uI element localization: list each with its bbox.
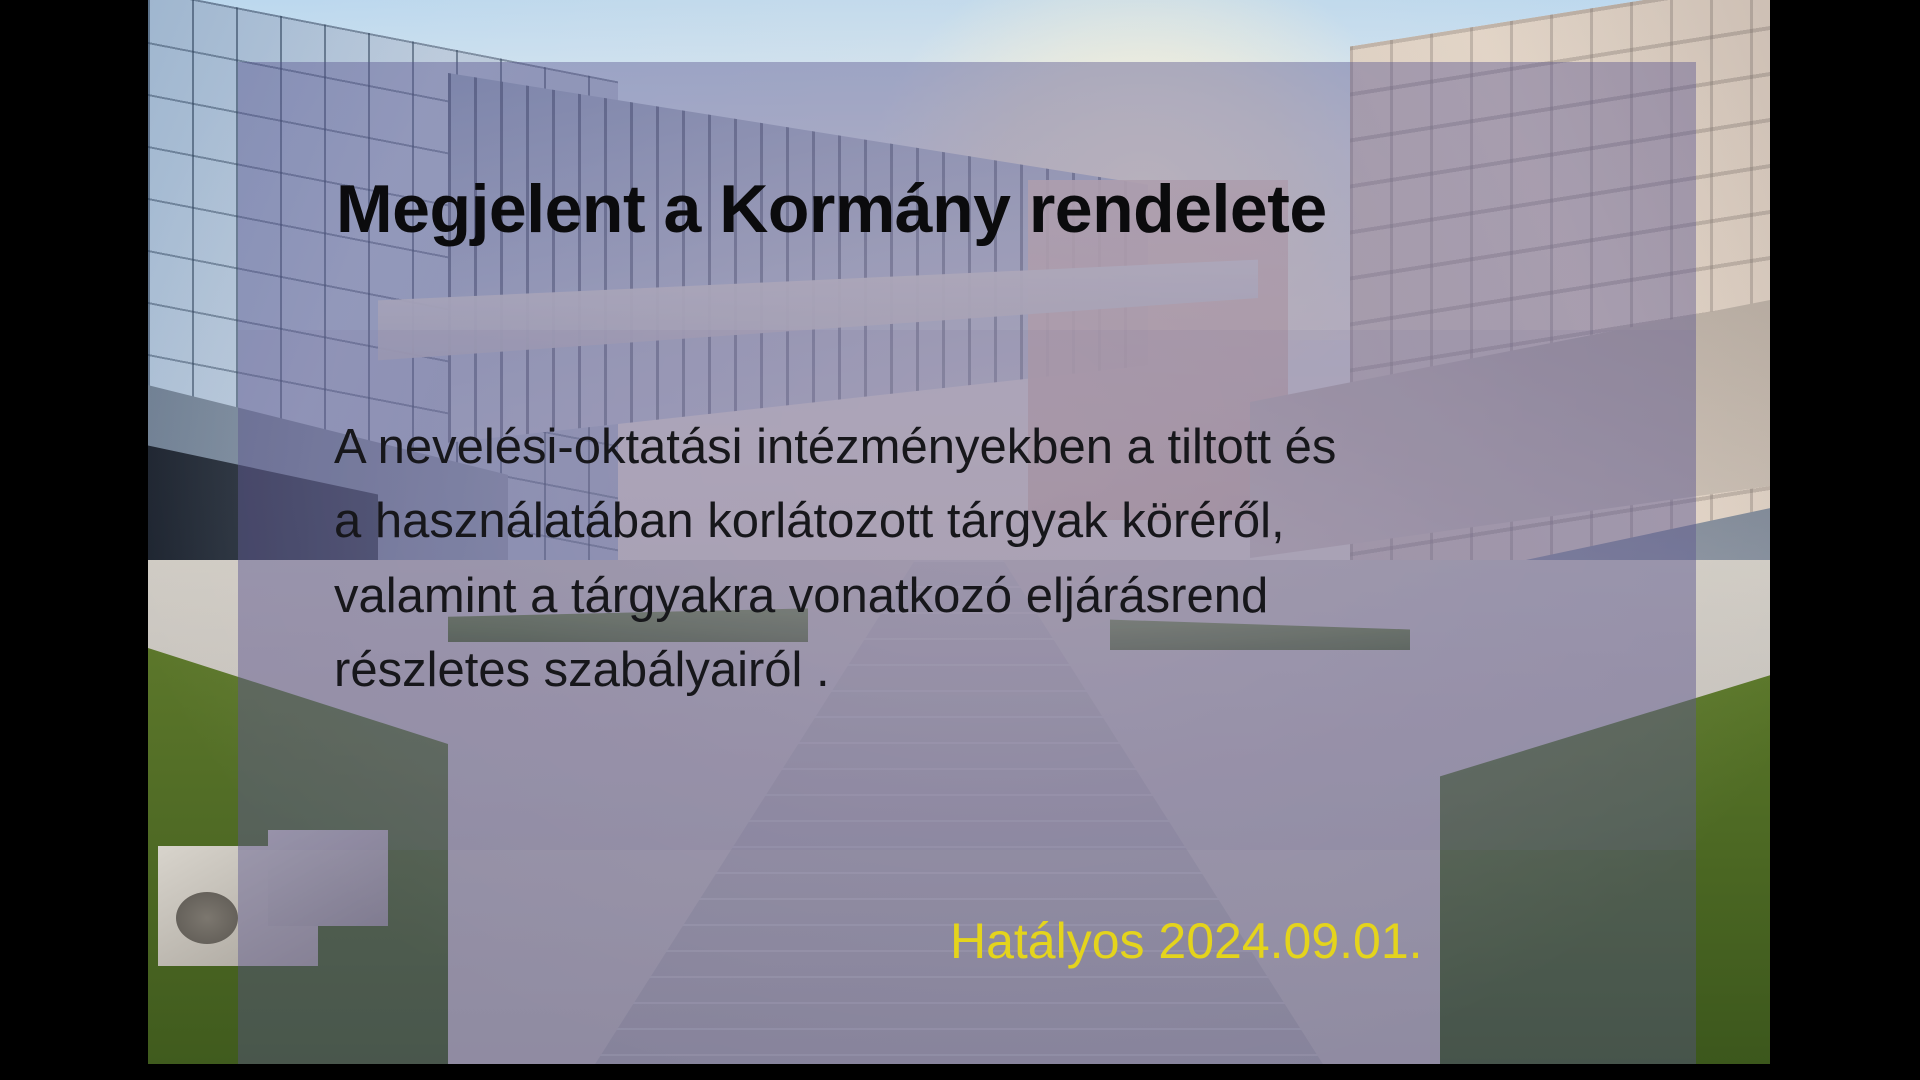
letterbox-bar-left (0, 0, 148, 1080)
effective-date-label: Hatályos 2024.09.01. (950, 912, 1423, 970)
body-line: részletes szabályairól . (334, 633, 1634, 707)
letterbox-bar-right (1770, 0, 1920, 1080)
slide-body-text: A nevelési-oktatási intézményekben a til… (334, 410, 1634, 708)
body-line: A nevelési-oktatási intézményekben a til… (334, 410, 1634, 484)
letterbox-bar-bottom (0, 1064, 1920, 1080)
body-line: a használatában korlátozott tárgyak köré… (334, 484, 1634, 558)
slide-title: Megjelent a Kormány rendelete (336, 174, 1656, 245)
body-line: valamint a tárgyakra vonatkozó eljárásre… (334, 559, 1634, 633)
presentation-slide: Megjelent a Kormány rendelete A nevelési… (0, 0, 1920, 1080)
